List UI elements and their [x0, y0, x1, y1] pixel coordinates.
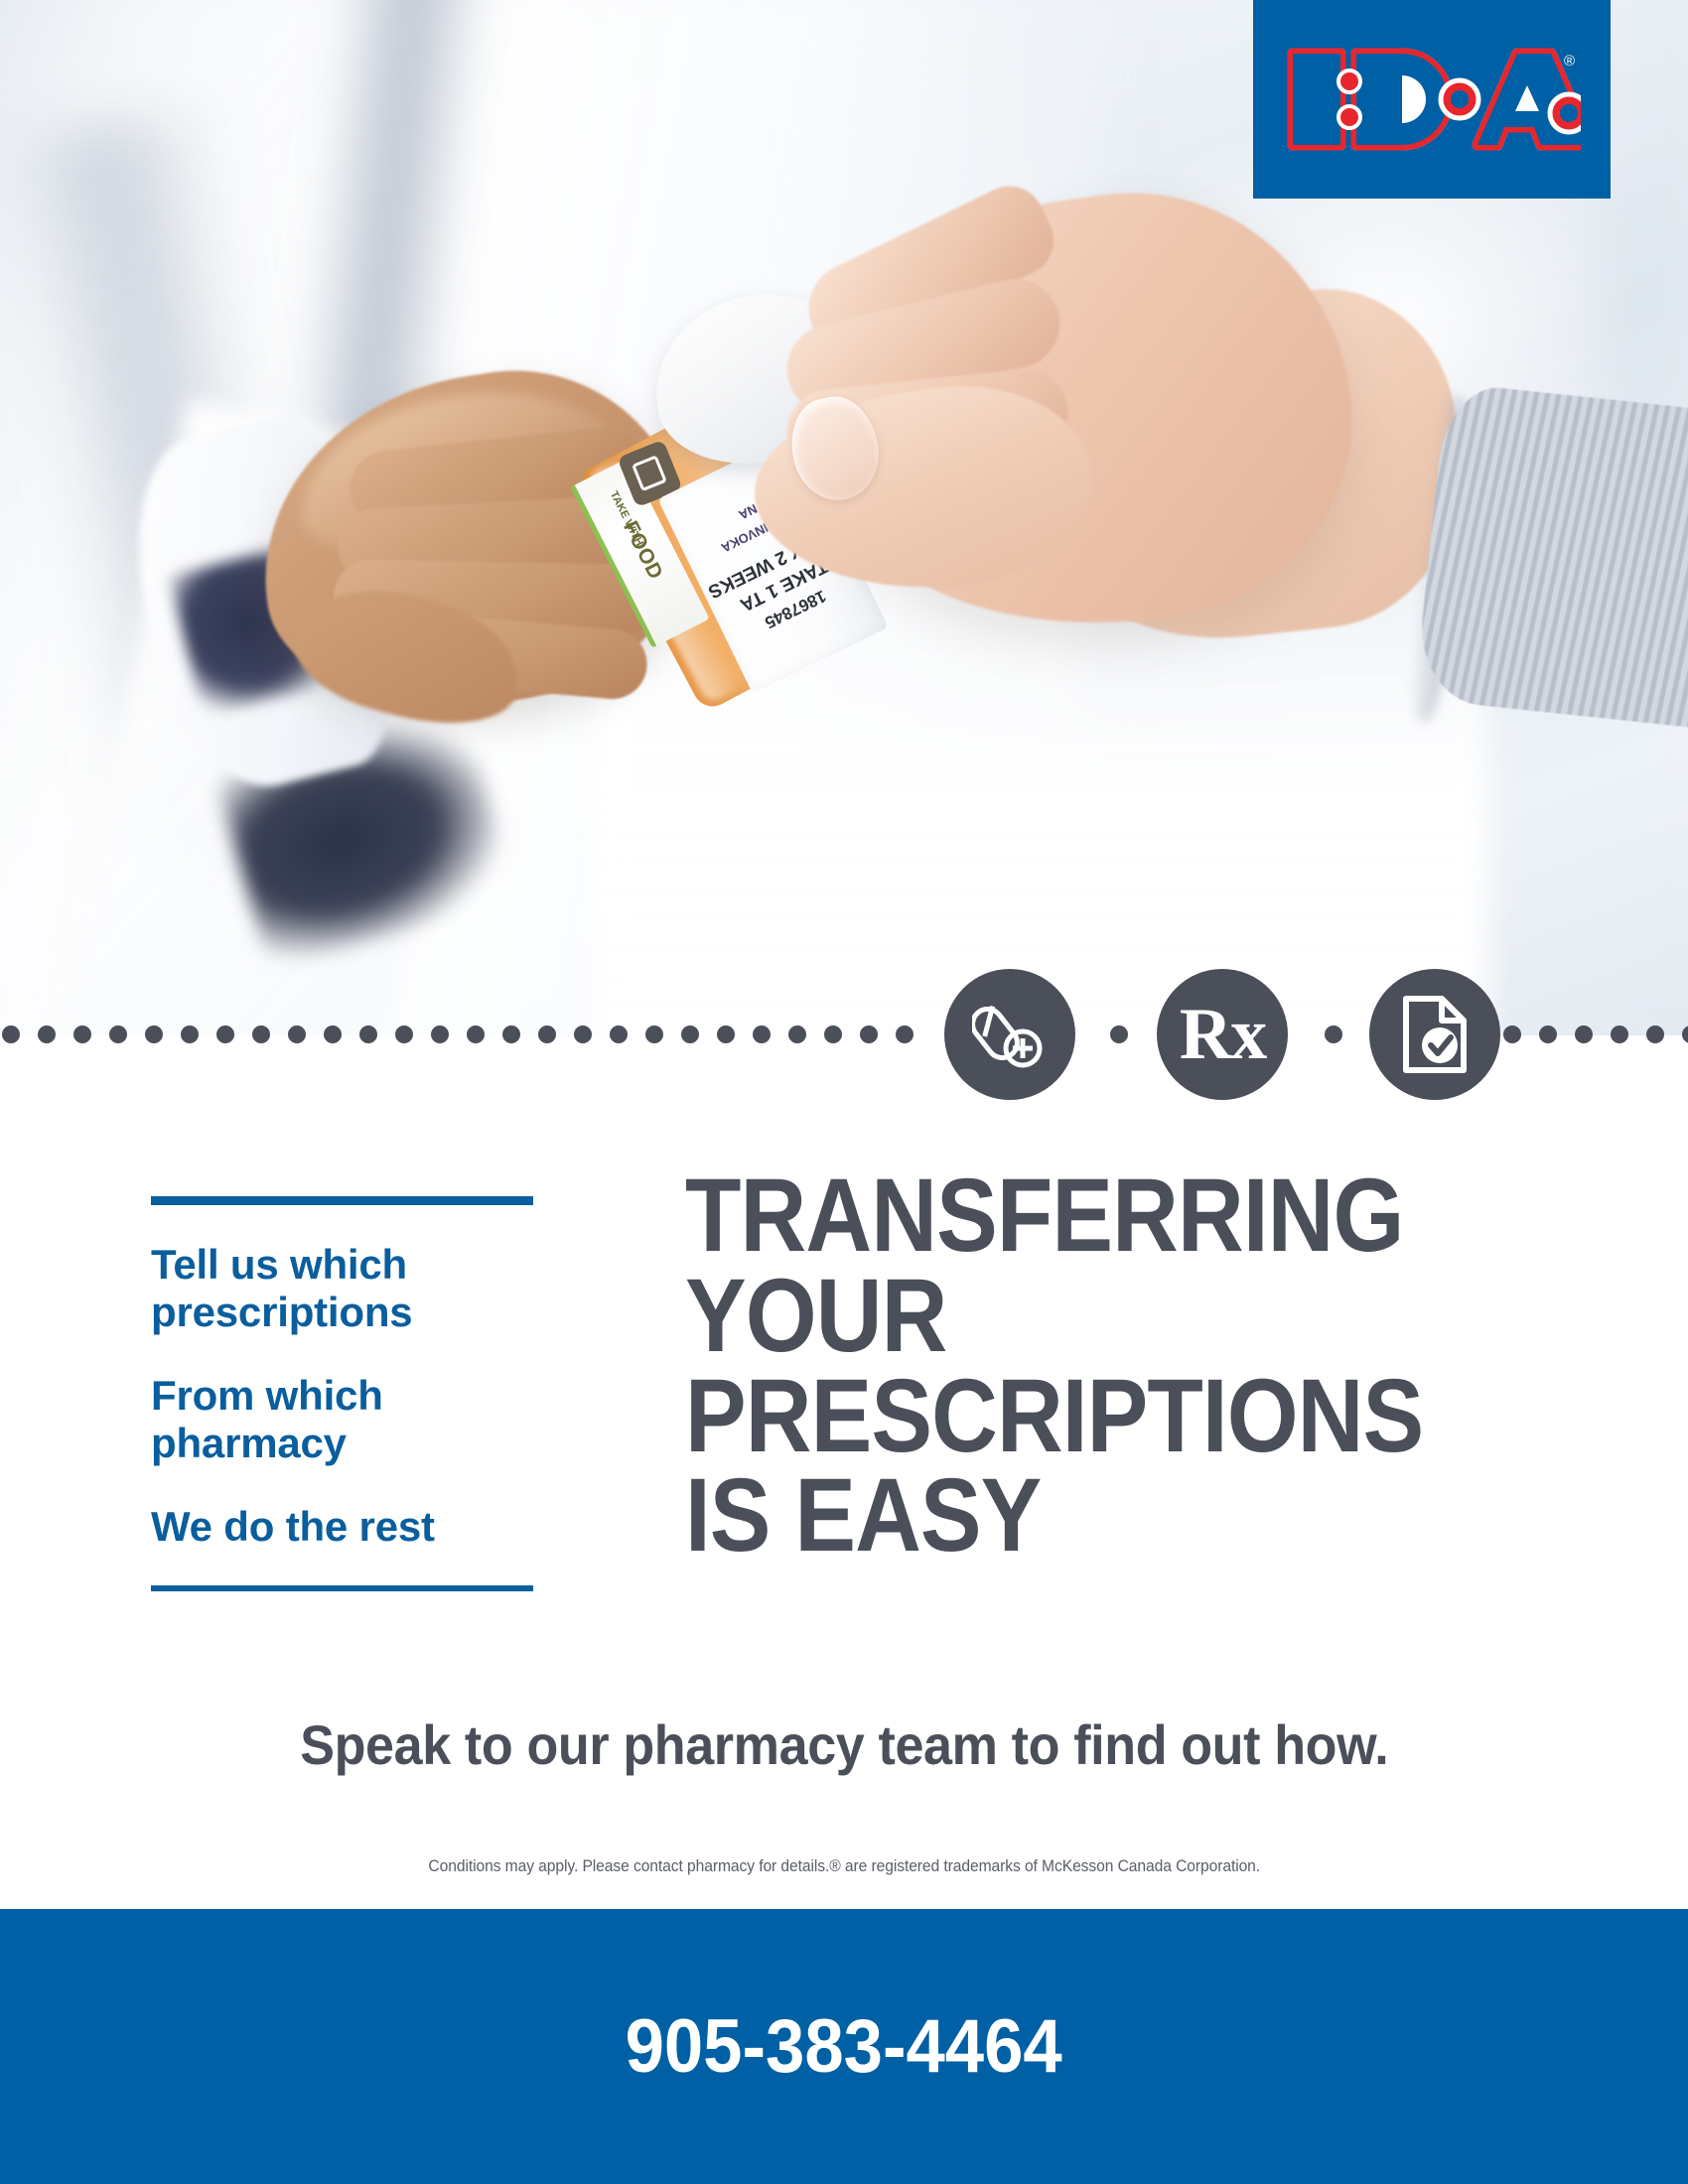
divider-dot [896, 1025, 914, 1043]
divider-dot [324, 1025, 342, 1043]
bullet-item-3: We do the rest [151, 1503, 536, 1551]
divider-dot [681, 1025, 699, 1043]
divider-dot [610, 1025, 628, 1043]
pills-plus-glyph [972, 997, 1048, 1072]
divider-dot [467, 1025, 485, 1043]
divider-dot [538, 1025, 556, 1043]
divider-dot [1539, 1025, 1557, 1043]
headline-line-1: TRANSFERRING [685, 1166, 1472, 1267]
bullet-item-1: Tell us which prescriptions [151, 1241, 536, 1336]
customer-knit-sleeve [1414, 382, 1688, 730]
ida-logo-mark: ® [1283, 40, 1581, 159]
divider-dot [502, 1025, 520, 1043]
footer-bar: 905-383-4464 [0, 1909, 1688, 2184]
divider-dot [1682, 1025, 1688, 1043]
rx-icon: Rx [1157, 969, 1288, 1100]
poster-root: FOOD TAKE WITH 1867845 TAKE 1 TA ONLY 2 … [0, 0, 1688, 2184]
divider-dot [38, 1025, 56, 1043]
bullet-item-2: From which pharmacy [151, 1372, 536, 1467]
divider-dot [145, 1025, 163, 1043]
bullet-list: Tell us which prescriptions From which p… [151, 1196, 536, 1591]
call-to-action-label: Speak to our pharmacy team to find out h… [300, 1712, 1388, 1777]
divider-dot [73, 1025, 91, 1043]
divider-dot [1611, 1025, 1628, 1043]
divider-dot [216, 1025, 234, 1043]
pills-plus-icon [944, 969, 1075, 1100]
page-title: TRANSFERRING YOUR PRESCRIPTIONS IS EASY [685, 1166, 1472, 1567]
divider-dot [1110, 1025, 1128, 1043]
divider-dot [1575, 1025, 1593, 1043]
divider-dot [717, 1025, 735, 1043]
svg-text:®: ® [1564, 53, 1575, 69]
divider-dot [431, 1025, 449, 1043]
divider-dot [753, 1025, 771, 1043]
headline-line-4: IS EASY [685, 1466, 1472, 1567]
divider-dot [1646, 1025, 1664, 1043]
divider-dot [395, 1025, 413, 1043]
divider-dot [1325, 1025, 1342, 1043]
divider-dot [574, 1025, 592, 1043]
rx-glyph: Rx [1180, 998, 1265, 1071]
bullet-rule-top [151, 1196, 533, 1205]
divider-dot [109, 1025, 127, 1043]
divider-dot [359, 1025, 377, 1043]
divider-dot [288, 1025, 306, 1043]
phone-number[interactable]: 905-383-4464 [609, 2003, 1078, 2090]
legal-fineprint: Conditions may apply. Please contact pha… [0, 1856, 1688, 1876]
divider-dot [2, 1025, 20, 1043]
divider-dot [181, 1025, 199, 1043]
call-to-action-text: Speak to our pharmacy team to find out h… [0, 1712, 1688, 1777]
document-check-icon [1369, 969, 1500, 1100]
divider-dot [860, 1025, 878, 1043]
phone-number-text: 905-383-4464 [626, 2003, 1062, 2090]
ida-logo: ® [1253, 0, 1611, 199]
legal-fineprint-text: Conditions may apply. Please contact pha… [428, 1856, 1260, 1876]
divider-dot [645, 1025, 663, 1043]
headline-line-3: PRESCRIPTIONS [685, 1367, 1472, 1467]
divider-dot [252, 1025, 270, 1043]
document-check-glyph [1398, 994, 1472, 1075]
divider-dot [824, 1025, 842, 1043]
divider-dot [788, 1025, 806, 1043]
bullet-rule-bottom [151, 1585, 533, 1591]
divider-dot [1503, 1025, 1521, 1043]
headline-line-2: YOUR [685, 1267, 1472, 1367]
